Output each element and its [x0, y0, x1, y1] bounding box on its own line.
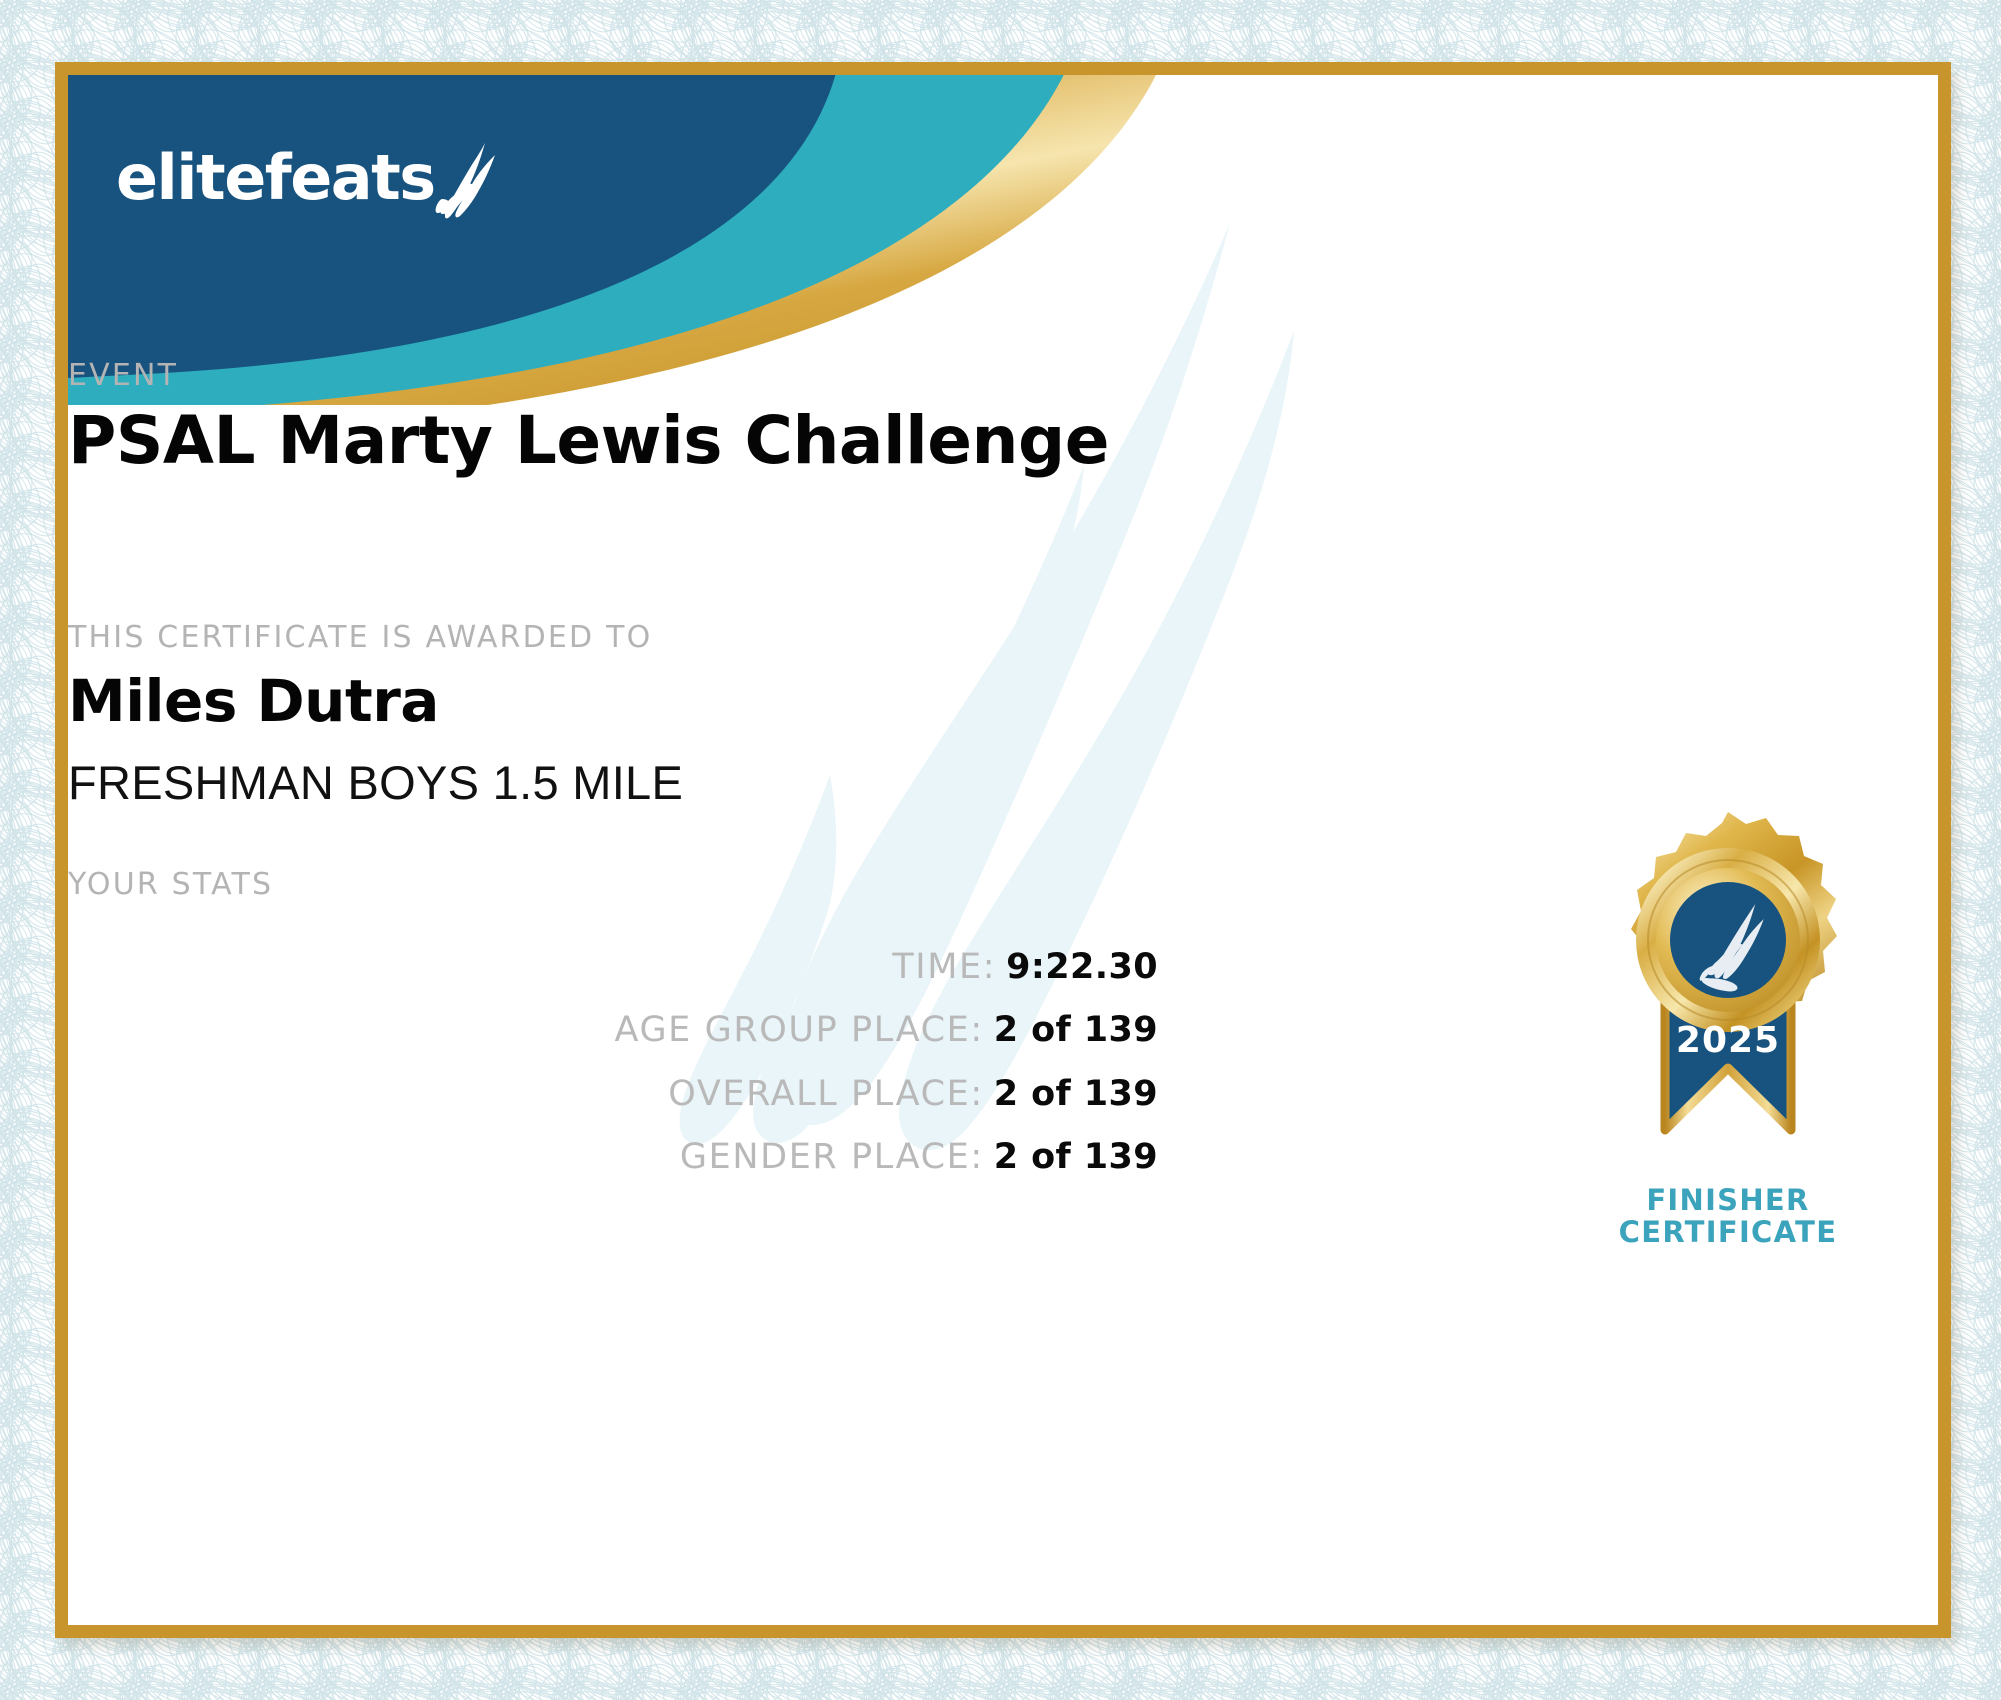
stat-key: GENDER PLACE:: [680, 1137, 984, 1177]
event-label: EVENT: [68, 358, 1938, 393]
finisher-medal-badge: 2025 FINISHER CERTIFICATE: [1573, 800, 1883, 1249]
winged-foot-icon: [435, 141, 501, 219]
badge-caption-line1: FINISHER: [1573, 1184, 1883, 1216]
medal-rosette-icon: 2025: [1573, 800, 1883, 1180]
stat-value: 2 of 139: [994, 1137, 1158, 1177]
logo-wordmark: elitefeats: [116, 147, 435, 209]
stat-value: 9:22.30: [1006, 947, 1158, 987]
stat-key: TIME:: [892, 947, 996, 987]
badge-year: 2025: [1676, 1020, 1780, 1061]
event-name: PSAL Marty Lewis Challenge: [68, 402, 1938, 479]
stat-key: OVERALL PLACE:: [668, 1074, 983, 1114]
stat-value: 2 of 139: [994, 1074, 1158, 1114]
elitefeats-logo: elitefeats: [116, 137, 501, 219]
certificate-frame: elitefeats EVENT PSAL Marty Lewis Challe…: [55, 62, 1951, 1638]
awarded-to-label: THIS CERTIFICATE IS AWARDED TO: [68, 620, 1938, 655]
stat-key: AGE GROUP PLACE:: [615, 1010, 984, 1050]
badge-caption: FINISHER CERTIFICATE: [1573, 1184, 1883, 1249]
badge-caption-line2: CERTIFICATE: [1573, 1216, 1883, 1248]
awardee-name: Miles Dutra: [68, 667, 1938, 735]
stat-value: 2 of 139: [994, 1010, 1158, 1050]
certificate-page: elitefeats EVENT PSAL Marty Lewis Challe…: [0, 0, 2001, 1700]
